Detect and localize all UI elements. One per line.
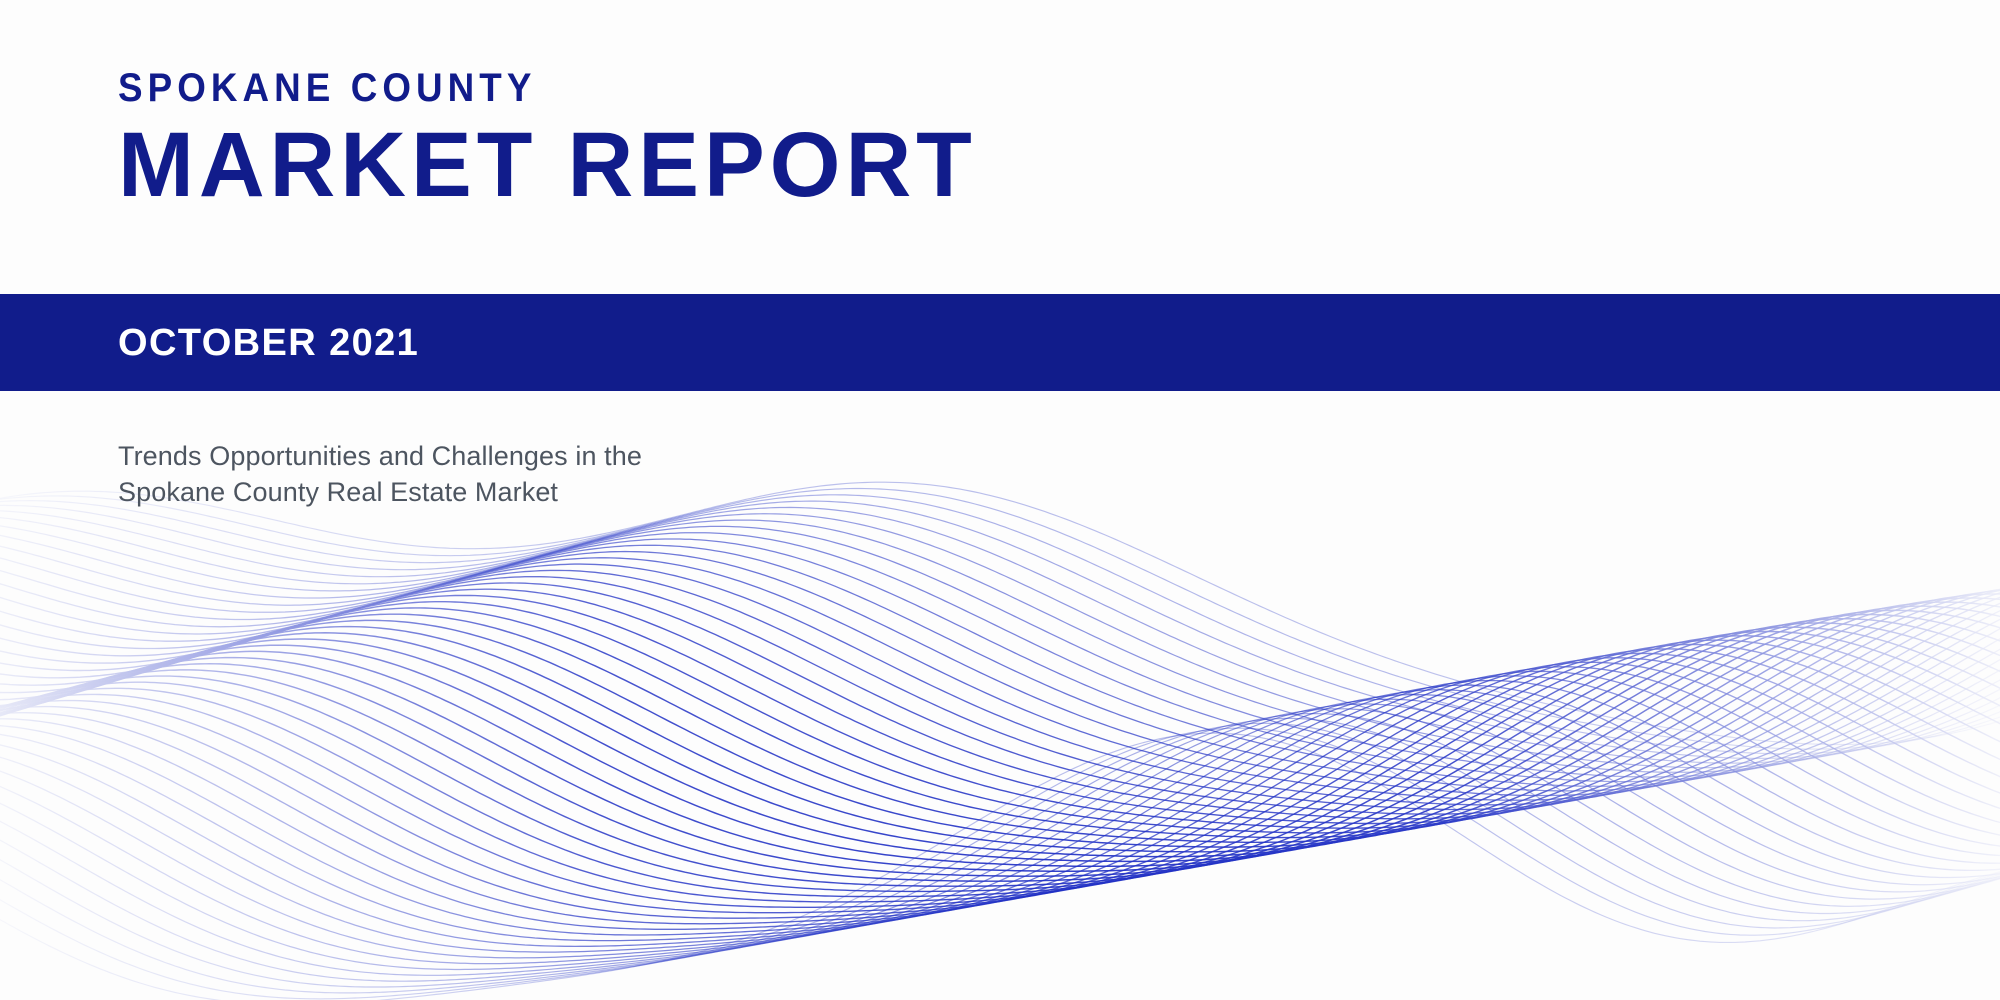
wave-line bbox=[0, 623, 2000, 871]
wave-line bbox=[0, 690, 2000, 952]
wave-line bbox=[0, 514, 2000, 768]
date-banner: OCTOBER 2021 bbox=[0, 294, 2000, 391]
wave-line bbox=[0, 632, 2000, 882]
wave-line bbox=[0, 636, 2000, 886]
wave-line bbox=[0, 590, 2000, 833]
wave-line bbox=[0, 681, 2000, 941]
wave-line bbox=[0, 662, 2000, 918]
wave-line bbox=[0, 627, 2000, 876]
wave-line bbox=[0, 704, 2000, 970]
wave-line bbox=[0, 533, 2000, 782]
wave-line bbox=[0, 649, 2000, 902]
wave-line bbox=[0, 482, 2000, 744]
wave-line bbox=[0, 645, 2000, 897]
wave-lines-svg bbox=[0, 430, 2000, 1000]
wave-line bbox=[0, 602, 2000, 847]
wave-line bbox=[0, 577, 2000, 815]
wave-line bbox=[0, 526, 2000, 777]
wave-line bbox=[0, 699, 2000, 963]
wave-line bbox=[0, 501, 2000, 758]
wave-line bbox=[0, 685, 2000, 946]
report-cover-page: SPOKANE COUNTY MARKET REPORT OCTOBER 202… bbox=[0, 0, 2000, 1000]
subtitle-line-2: Spokane County Real Estate Market bbox=[118, 474, 878, 510]
wave-line bbox=[0, 545, 2000, 791]
wave-line bbox=[0, 564, 2000, 805]
wave-line bbox=[0, 552, 2000, 796]
title-block: SPOKANE COUNTY MARKET REPORT bbox=[118, 68, 1318, 210]
wave-line bbox=[0, 714, 2000, 982]
wave-line bbox=[0, 594, 2000, 838]
wave-line bbox=[0, 588, 2000, 828]
wave-line bbox=[0, 671, 2000, 929]
wave-line bbox=[0, 539, 2000, 786]
wave-line bbox=[0, 507, 2000, 763]
page-title: MARKET REPORT bbox=[118, 120, 1306, 210]
wave-line bbox=[0, 695, 2000, 958]
wave-line bbox=[0, 606, 2000, 852]
wave-line bbox=[0, 615, 2000, 862]
wave-line bbox=[0, 709, 2000, 976]
wave-line-group bbox=[0, 482, 2000, 1000]
wave-line bbox=[0, 658, 2000, 913]
subtitle: Trends Opportunities and Challenges in t… bbox=[118, 438, 878, 510]
wave-line bbox=[0, 718, 2000, 987]
wave-line bbox=[0, 619, 2000, 867]
wave-line bbox=[0, 520, 2000, 772]
wave-line bbox=[0, 723, 2000, 993]
date-banner-label: OCTOBER 2021 bbox=[118, 324, 419, 362]
wave-line bbox=[0, 598, 2000, 842]
subtitle-line-1: Trends Opportunities and Challenges in t… bbox=[118, 438, 878, 474]
wave-line bbox=[0, 676, 2000, 935]
wave-line bbox=[0, 489, 2000, 750]
wave-line bbox=[0, 610, 2000, 856]
wave-line bbox=[0, 558, 2000, 800]
wave-line bbox=[0, 495, 2000, 754]
wave-line bbox=[0, 583, 2000, 819]
wave-line bbox=[0, 667, 2000, 924]
wave-line bbox=[0, 733, 2000, 1000]
page-eyebrow: SPOKANE COUNTY bbox=[118, 68, 1222, 108]
wave-line bbox=[0, 588, 2000, 823]
wave-line bbox=[0, 728, 2000, 999]
wave-graphic bbox=[0, 430, 2000, 1000]
wave-line bbox=[0, 653, 2000, 907]
wave-line bbox=[0, 640, 2000, 891]
wave-line bbox=[0, 570, 2000, 809]
